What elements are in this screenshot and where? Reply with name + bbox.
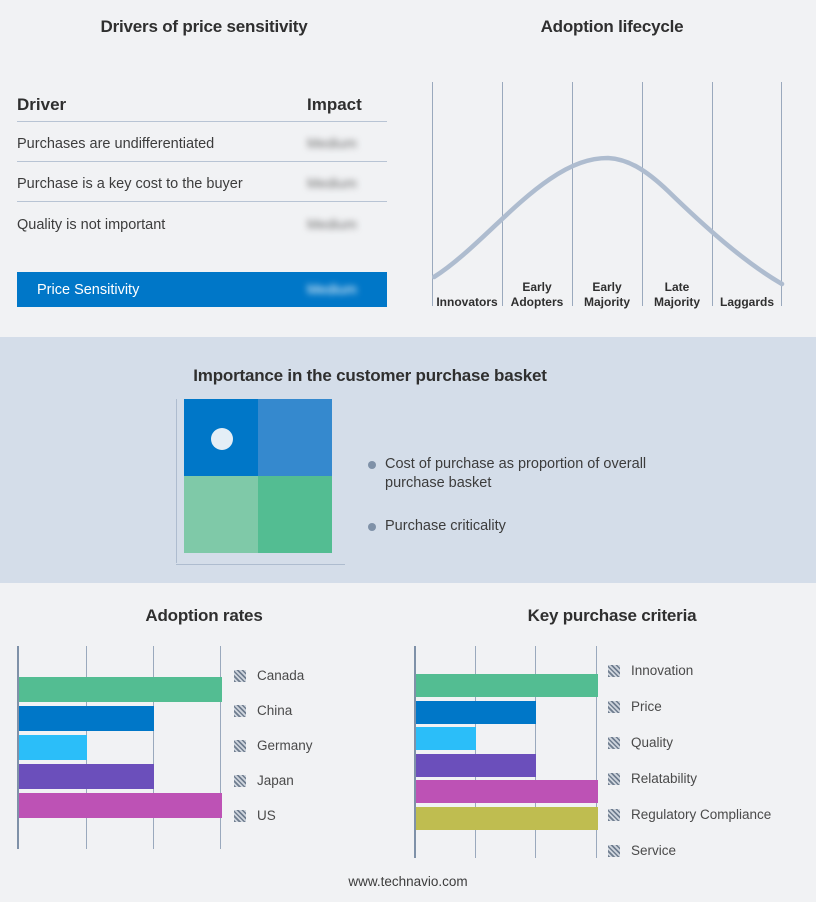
table-row: [19, 820, 222, 849]
quadrant-top-left: [184, 399, 258, 476]
table-row: [416, 673, 598, 700]
lifecycle-segment-early-majority: Early Majority: [572, 266, 642, 310]
lifecycle-segment-innovators: Innovators: [432, 266, 502, 310]
list-item: Service: [608, 843, 771, 858]
hatched-swatch-icon: [234, 810, 246, 822]
purchase-criteria-chart: [414, 646, 598, 858]
lifecycle-segment-early-adopters: Early Adopters: [502, 266, 572, 310]
hatched-swatch-icon: [608, 737, 620, 749]
list-item: Cost of purchase as proportion of overal…: [368, 455, 698, 493]
bullet-dot-icon: [368, 461, 376, 469]
hatched-swatch-icon: [234, 740, 246, 752]
bar-canada: [19, 677, 222, 702]
segment-label-line1: Early: [522, 280, 551, 295]
impact-value-blurred: Medium: [307, 135, 357, 151]
impact-value-blurred: Medium: [307, 216, 357, 232]
lifecycle-segment-labels: Innovators Early Adopters Early Majority…: [432, 266, 782, 310]
position-marker-dot: [211, 428, 233, 450]
driver-name: Purchase is a key cost to the buyer: [17, 176, 243, 201]
legend-label: Price: [631, 699, 662, 714]
legend-label: US: [257, 808, 276, 823]
table-row: [19, 675, 222, 704]
table-row: [19, 646, 222, 675]
lifecycle-segment-laggards: Laggards: [712, 266, 782, 310]
impact-value-blurred: Medium: [307, 281, 357, 297]
quadrant-bottom-left: [184, 476, 258, 553]
bar-germany: [19, 735, 87, 760]
legend-label: Germany: [257, 738, 313, 753]
legend-label: Innovation: [631, 663, 693, 678]
quadrant-bottom-right: [258, 476, 332, 553]
bullet-dot-icon: [368, 523, 376, 531]
segment-label-line2: Innovators: [436, 295, 497, 310]
table-row: Purchases are undifferentiated Medium: [17, 122, 387, 162]
table-row: [416, 646, 598, 673]
impact-value-cell: Medium: [307, 135, 387, 161]
table-row: [19, 733, 222, 762]
legend-label: China: [257, 703, 292, 718]
drivers-panel-title: Drivers of price sensitivity: [0, 17, 408, 37]
list-item: Purchase criticality: [368, 517, 698, 536]
column-header-driver: Driver: [17, 95, 66, 121]
table-row: [416, 779, 598, 806]
list-item: Price: [608, 699, 771, 714]
adoption-rates-chart: [17, 646, 222, 849]
bar-china: [19, 706, 154, 731]
segment-label-line1: Late: [665, 280, 690, 295]
table-row: [19, 791, 222, 820]
footer-url: www.technavio.com: [0, 874, 816, 889]
bar-group: [416, 646, 598, 858]
driver-name: Purchases are undifferentiated: [17, 136, 214, 161]
segment-label-line2: Majority: [654, 295, 700, 310]
quadrant-axis-vertical: [176, 399, 177, 563]
table-row: [19, 762, 222, 791]
list-item: Regulatory Compliance: [608, 807, 771, 822]
legend-label: Relatability: [631, 771, 697, 786]
price-sensitivity-impact-cell: Medium: [307, 281, 387, 299]
legend-label: Purchase criticality: [385, 517, 506, 536]
list-item: Innovation: [608, 663, 771, 678]
table-row: [416, 832, 598, 859]
hatched-swatch-icon: [234, 705, 246, 717]
impact-value-cell: Medium: [307, 216, 387, 242]
quadrant-grid: [184, 399, 332, 553]
purchase-basket-panel: Importance in the customer purchase bask…: [0, 337, 816, 583]
list-item: Japan: [234, 773, 313, 788]
quadrant-axis-horizontal: [176, 564, 345, 565]
legend-label: Japan: [257, 773, 294, 788]
bar-us: [19, 793, 222, 818]
segment-label-line2: Adopters: [511, 295, 564, 310]
bar-price: [416, 701, 536, 724]
table-row: Purchase is a key cost to the buyer Medi…: [17, 162, 387, 202]
impact-value-cell: Medium: [307, 175, 387, 201]
purchase-criteria-title: Key purchase criteria: [408, 606, 816, 626]
legend-label: Quality: [631, 735, 673, 750]
bar-quality: [416, 727, 476, 750]
list-item: Germany: [234, 738, 313, 753]
adoption-lifecycle-panel: Adoption lifecycle Innovators Early Adop…: [408, 0, 816, 337]
hatched-swatch-icon: [608, 665, 620, 677]
quadrant-matrix-chart: [176, 399, 346, 565]
segment-label-line1: Early: [592, 280, 621, 295]
purchase-criteria-legend: Innovation Price Quality Relatability Re…: [608, 663, 771, 858]
purchase-criteria-panel: Key purchase criteria Innovation Price: [408, 583, 816, 902]
lifecycle-chart: Innovators Early Adopters Early Majority…: [432, 78, 802, 310]
segment-label-line2: Majority: [584, 295, 630, 310]
legend-label: Service: [631, 843, 676, 858]
table-row: [19, 704, 222, 733]
list-item: Relatability: [608, 771, 771, 786]
driver-name: Quality is not important: [17, 217, 165, 242]
adoption-rates-panel: Adoption rates Canada China Germany: [0, 583, 408, 902]
legend-label: Cost of purchase as proportion of overal…: [385, 455, 698, 493]
hatched-swatch-icon: [608, 773, 620, 785]
hatched-swatch-icon: [608, 845, 620, 857]
hatched-swatch-icon: [234, 670, 246, 682]
bar-group: [19, 646, 222, 849]
list-item: Canada: [234, 668, 313, 683]
lifecycle-panel-title: Adoption lifecycle: [408, 17, 816, 37]
bar-service: [416, 807, 598, 830]
list-item: US: [234, 808, 313, 823]
basket-panel-title: Importance in the customer purchase bask…: [0, 366, 740, 386]
bar-regulatory-compliance: [416, 780, 598, 803]
table-row: [416, 805, 598, 832]
segment-label-line2: Laggards: [720, 295, 774, 310]
basket-legend: Cost of purchase as proportion of overal…: [368, 455, 698, 560]
bar-innovation: [416, 674, 598, 697]
lifecycle-segment-late-majority: Late Majority: [642, 266, 712, 310]
legend-label: Regulatory Compliance: [631, 807, 771, 822]
table-row: [416, 752, 598, 779]
drivers-table: Driver Impact Purchases are undifferenti…: [17, 88, 387, 242]
price-sensitivity-label: Price Sensitivity: [37, 282, 139, 298]
bar-japan: [19, 764, 154, 789]
price-sensitivity-summary-row: Price Sensitivity Medium: [17, 272, 387, 307]
bar-relatability: [416, 754, 536, 777]
table-row: [416, 699, 598, 726]
hatched-swatch-icon: [234, 775, 246, 787]
hatched-swatch-icon: [608, 701, 620, 713]
quadrant-top-right: [258, 399, 332, 476]
table-row: [416, 726, 598, 753]
impact-value-blurred: Medium: [307, 175, 357, 191]
drivers-panel: Drivers of price sensitivity Driver Impa…: [0, 0, 408, 337]
list-item: China: [234, 703, 313, 718]
column-header-impact: Impact: [307, 95, 387, 121]
table-row: Quality is not important Medium: [17, 202, 387, 242]
adoption-rates-title: Adoption rates: [0, 606, 408, 626]
list-item: Quality: [608, 735, 771, 750]
adoption-rates-legend: Canada China Germany Japan US: [234, 668, 313, 823]
legend-label: Canada: [257, 668, 304, 683]
drivers-table-header-row: Driver Impact: [17, 88, 387, 122]
hatched-swatch-icon: [608, 809, 620, 821]
